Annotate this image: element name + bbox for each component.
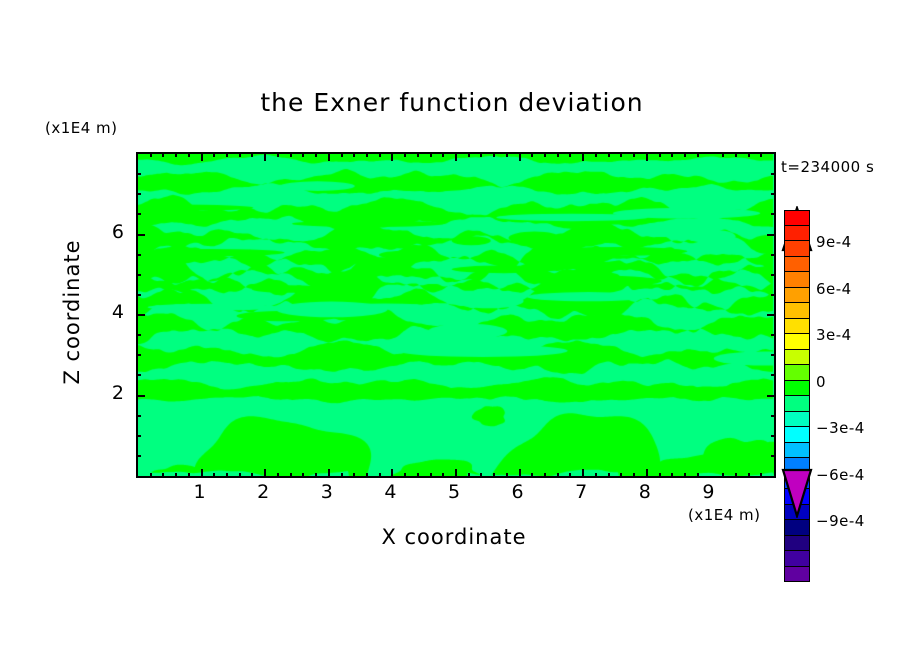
x-tick xyxy=(646,469,648,478)
y-tick xyxy=(136,354,141,356)
x-tick-top xyxy=(697,152,699,157)
y-tick xyxy=(136,374,141,376)
y-tick-right xyxy=(771,213,776,215)
colorbar-band-7[interactable] xyxy=(784,319,810,335)
colorbar-band-6[interactable] xyxy=(784,303,810,319)
x-tick-minor xyxy=(722,473,724,478)
y-axis-unit-label: (x1E4 m) xyxy=(45,119,118,137)
x-tick-top xyxy=(213,152,215,157)
x-tick xyxy=(213,473,215,478)
x-tick xyxy=(493,473,495,478)
x-tick-minor xyxy=(722,152,724,157)
y-tick-right xyxy=(771,455,776,457)
x-tick-label: 7 xyxy=(561,481,601,503)
colorbar-band-23[interactable] xyxy=(784,567,810,583)
x-tick xyxy=(315,473,317,478)
y-tick-label: 2 xyxy=(96,382,124,404)
y-tick xyxy=(136,213,141,215)
x-tick-top xyxy=(569,152,571,157)
x-tick-label: 2 xyxy=(243,481,283,503)
x-tick xyxy=(379,473,381,478)
y-tick-right xyxy=(771,435,776,437)
x-tick-top xyxy=(506,152,508,157)
x-tick xyxy=(506,473,508,478)
y-tick-label: 4 xyxy=(96,301,124,323)
x-tick-top xyxy=(608,152,610,157)
y-tick-right xyxy=(767,234,776,236)
x-tick xyxy=(455,469,457,478)
x-tick-top xyxy=(353,152,355,157)
y-tick xyxy=(136,334,141,336)
y-tick-right xyxy=(771,334,776,336)
x-tick xyxy=(404,473,406,478)
x-tick xyxy=(302,473,304,478)
x-tick xyxy=(468,473,470,478)
x-tick xyxy=(188,473,190,478)
x-tick xyxy=(201,469,203,478)
x-tick xyxy=(353,473,355,478)
x-tick-top xyxy=(226,152,228,157)
x-tick xyxy=(290,473,292,478)
x-tick xyxy=(391,469,393,478)
colorbar-band-3[interactable] xyxy=(784,257,810,273)
colorbar-band-9[interactable] xyxy=(784,350,810,366)
x-tick xyxy=(251,473,253,478)
x-tick-top xyxy=(341,152,343,157)
y-tick xyxy=(136,193,141,195)
x-axis-title: X coordinate xyxy=(136,525,772,549)
x-tick xyxy=(697,473,699,478)
x-tick xyxy=(620,473,622,478)
colorbar-arrow-bottom xyxy=(778,466,816,518)
x-tick xyxy=(531,473,533,478)
x-tick-top xyxy=(544,152,546,157)
x-tick xyxy=(417,473,419,478)
x-tick-top xyxy=(582,152,584,161)
y-tick-right xyxy=(771,254,776,256)
x-tick xyxy=(366,473,368,478)
x-tick-top xyxy=(290,152,292,157)
x-tick-top xyxy=(264,152,266,161)
x-tick-minor xyxy=(748,473,750,478)
colorbar-band-0[interactable] xyxy=(784,210,810,226)
x-tick-top xyxy=(302,152,304,157)
colorbar-band-4[interactable] xyxy=(784,272,810,288)
y-tick xyxy=(136,395,145,397)
colorbar-band-1[interactable] xyxy=(784,226,810,242)
x-tick xyxy=(480,473,482,478)
x-tick-label: 1 xyxy=(180,481,220,503)
x-tick-top xyxy=(188,152,190,157)
colorbar-tick-label: −9e-4 xyxy=(816,512,865,530)
x-tick xyxy=(671,473,673,478)
colorbar-tick-label: −3e-4 xyxy=(816,419,865,437)
colorbar-band-13[interactable] xyxy=(784,412,810,428)
x-tick-top xyxy=(480,152,482,157)
x-tick-top xyxy=(468,152,470,157)
x-tick-label: 8 xyxy=(625,481,665,503)
x-tick-label: 3 xyxy=(307,481,347,503)
y-tick xyxy=(136,254,141,256)
y-tick-right xyxy=(767,395,776,397)
x-tick-top xyxy=(277,152,279,157)
colorbar-band-20[interactable] xyxy=(784,520,810,536)
x-tick xyxy=(328,469,330,478)
x-tick-top xyxy=(162,152,164,157)
x-tick-top xyxy=(430,152,432,157)
x-tick xyxy=(162,473,164,478)
y-tick-right xyxy=(771,193,776,195)
x-tick-top xyxy=(519,152,521,161)
x-tick xyxy=(430,473,432,478)
x-tick-label: 5 xyxy=(434,481,474,503)
x-tick-minor xyxy=(748,152,750,157)
y-tick xyxy=(136,173,141,175)
contour-plot-area xyxy=(136,152,776,478)
x-tick-top xyxy=(671,152,673,157)
x-tick-top xyxy=(646,152,648,161)
colorbar-tick-label: −6e-4 xyxy=(816,466,865,484)
x-tick-top xyxy=(328,152,330,161)
colorbar-band-2[interactable] xyxy=(784,241,810,257)
y-tick-label: 6 xyxy=(96,221,124,243)
x-tick xyxy=(519,469,521,478)
x-tick xyxy=(684,473,686,478)
x-tick xyxy=(150,473,152,478)
x-tick xyxy=(175,473,177,478)
x-tick-top xyxy=(684,152,686,157)
x-tick xyxy=(442,473,444,478)
x-tick-label: 9 xyxy=(688,481,728,503)
colorbar-tick-label: 6e-4 xyxy=(816,280,852,298)
x-tick xyxy=(569,473,571,478)
x-tick-top xyxy=(239,152,241,157)
x-tick-minor xyxy=(735,473,737,478)
colorbar-band-12[interactable] xyxy=(784,396,810,412)
x-tick-top xyxy=(531,152,533,157)
x-tick-top xyxy=(315,152,317,157)
x-tick xyxy=(544,473,546,478)
x-tick-top xyxy=(633,152,635,157)
x-tick-minor xyxy=(760,473,762,478)
colorbar-band-10[interactable] xyxy=(784,365,810,381)
x-tick-label: 6 xyxy=(498,481,538,503)
x-tick-top xyxy=(379,152,381,157)
x-tick-top xyxy=(417,152,419,157)
y-tick xyxy=(136,455,141,457)
colorbar[interactable] xyxy=(784,210,810,582)
x-tick xyxy=(341,473,343,478)
page-title: the Exner function deviation xyxy=(0,88,904,117)
x-tick xyxy=(608,473,610,478)
x-tick xyxy=(264,469,266,478)
y-tick-right xyxy=(767,314,776,316)
y-tick-right xyxy=(771,354,776,356)
colorbar-band-5[interactable] xyxy=(784,288,810,304)
x-tick xyxy=(633,473,635,478)
y-tick-right xyxy=(771,274,776,276)
x-tick-top xyxy=(251,152,253,157)
x-tick-top xyxy=(366,152,368,157)
x-tick-minor xyxy=(760,152,762,157)
x-tick-top xyxy=(455,152,457,161)
x-tick-top xyxy=(659,152,661,157)
y-tick xyxy=(136,415,141,417)
x-tick xyxy=(239,473,241,478)
colorbar-band-15[interactable] xyxy=(784,443,810,459)
y-tick-right xyxy=(771,415,776,417)
x-tick-top xyxy=(175,152,177,157)
x-tick xyxy=(595,473,597,478)
colorbar-band-11[interactable] xyxy=(784,381,810,397)
colorbar-band-14[interactable] xyxy=(784,427,810,443)
x-tick-top xyxy=(557,152,559,157)
y-axis-title: Z coordinate xyxy=(60,222,84,402)
y-tick-right xyxy=(771,294,776,296)
x-tick-top xyxy=(391,152,393,161)
x-tick-top xyxy=(150,152,152,157)
x-tick-top xyxy=(595,152,597,157)
colorbar-band-8[interactable] xyxy=(784,334,810,350)
y-tick xyxy=(136,314,145,316)
x-tick xyxy=(277,473,279,478)
x-tick-top xyxy=(404,152,406,157)
colorbar-band-22[interactable] xyxy=(784,551,810,567)
x-tick xyxy=(557,473,559,478)
x-tick-top xyxy=(442,152,444,157)
y-tick xyxy=(136,294,141,296)
x-tick xyxy=(226,473,228,478)
x-tick-top xyxy=(493,152,495,157)
y-tick xyxy=(136,274,141,276)
x-tick-label: 4 xyxy=(370,481,410,503)
colorbar-tick-label: 3e-4 xyxy=(816,326,852,344)
x-tick xyxy=(582,469,584,478)
x-tick-top xyxy=(201,152,203,161)
x-tick-top xyxy=(620,152,622,157)
y-tick-right xyxy=(771,173,776,175)
colorbar-tick-label: 0 xyxy=(816,373,826,391)
x-tick xyxy=(659,473,661,478)
contour-field xyxy=(138,154,774,476)
y-tick xyxy=(136,435,141,437)
colorbar-tick-label: 9e-4 xyxy=(816,233,852,251)
x-axis-unit-label: (x1E4 m) xyxy=(688,506,761,524)
x-tick-minor xyxy=(735,152,737,157)
time-stamp-label: t=234000 s xyxy=(781,158,874,176)
colorbar-band-21[interactable] xyxy=(784,536,810,552)
y-tick-right xyxy=(771,374,776,376)
y-tick xyxy=(136,234,145,236)
